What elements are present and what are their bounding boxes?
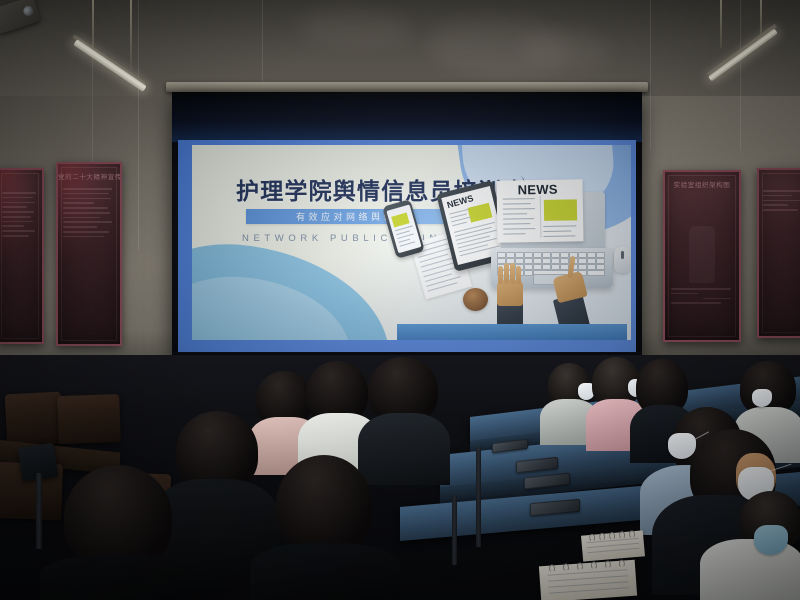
student-head-foreground-2 [276,455,372,555]
wall-poster-left-2: 党的二十大精神宣传栏 [56,162,122,346]
light-wire [130,0,132,70]
poster-shading [58,164,120,344]
slide-subtitle-cn: 有效应对网络舆情 [296,210,396,223]
screen-dark-margin [172,92,642,142]
screenshot-root: 党的二十大精神宣传栏 实验室组织架构图 [0,0,800,600]
slide-illustration: NEWS [397,184,627,334]
student-torso-foreground-2 [700,539,800,600]
wall-poster-left-1 [0,168,44,344]
projector-lens-icon [22,5,35,18]
student-torso [358,413,450,485]
light-wire [720,0,722,48]
wall-poster-right-1: 实验室组织架构图 [663,170,741,342]
wall-seam [740,0,741,150]
spiral-notebook[interactable] [581,530,645,561]
projection-screen: 护理学院舆情信息员培训会 有效应对网络舆情 NETWORK PUBLIC OPI… [172,92,642,360]
presentation-slide: 护理学院舆情信息员培训会 有效应对网络舆情 NETWORK PUBLIC OPI… [178,140,636,352]
poster-shading [0,170,42,342]
mouse-scroll-wheel-icon [621,251,624,259]
smartphone-highlight-block [391,213,409,228]
wall-stain [300,10,410,46]
newspaper-fold [540,196,542,238]
desk-leg [452,495,457,565]
desk-leg [476,447,481,547]
student-torso-foreground [40,555,200,600]
newspaper-highlight-block [544,199,577,221]
newspaper-header: NEWS [517,182,557,198]
smartphone-screen [386,205,421,254]
wall-seam [138,0,139,250]
audience-area [0,355,800,600]
slide-content-area: 护理学院舆情信息员培训会 有效应对网络舆情 NETWORK PUBLIC OPI… [192,145,631,340]
tablet-highlight-block [467,203,492,223]
wall-poster-right-2 [757,168,800,338]
student-head-foreground [64,465,172,569]
poster-shading [759,170,800,336]
projection-screen-valance [166,82,648,92]
illustration-coffee-cup [463,288,488,311]
illustration-smartphone [382,199,425,259]
illustration-newspaper: NEWS [496,179,583,242]
chair-back-left-2 [57,394,121,444]
wall-stain [520,30,610,70]
illustration-computer-mouse [614,246,631,273]
lectern-stand [36,473,42,549]
spiral-notebook[interactable] [539,560,637,600]
wall-seam [650,0,651,150]
illustration-desk-surface [397,324,627,340]
chair-back-left-1 [5,392,64,447]
poster-shading [665,172,739,340]
student-torso-foreground-2 [250,543,400,600]
